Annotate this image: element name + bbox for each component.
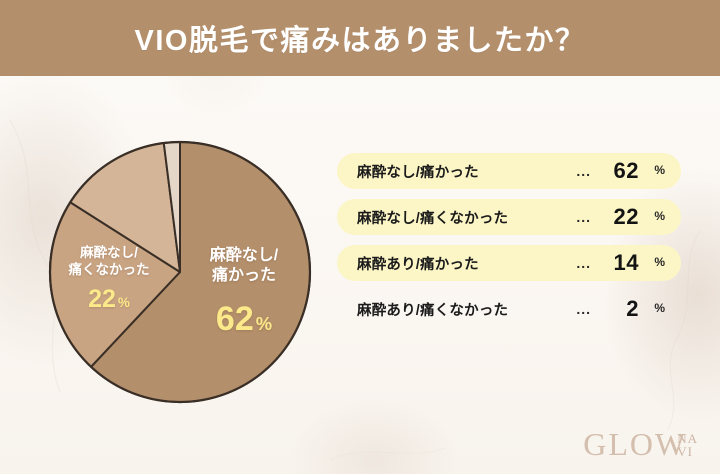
legend-label: 麻酔なし/痛くなかった [357,207,508,228]
legend-list: 麻酔なし/痛かった ... 62 % 麻酔なし/痛くなかった ... 22 % … [337,153,681,337]
legend-dots: ... [576,255,597,271]
slide-canvas: VIO脱毛で痛みはありましたか？ 麻酔なし/ 痛かった 62% 麻酔なし/ 痛く… [0,0,720,474]
page-title: VIO脱毛で痛みはありましたか？ [135,17,586,59]
pie-slice-label-secondary-line1: 麻酔なし/ [80,245,138,260]
brand-logo-sub-bottom: VI [677,445,698,458]
legend-value: 14 [597,250,639,276]
pie-slice-percent-primary: 62% [178,298,310,341]
pie-slice-label-secondary: 麻酔なし/ 痛くなかった 22% [50,244,168,316]
legend-label: 麻酔あり/痛かった [357,253,479,274]
pie-slice-percent-primary-value: 62 [216,300,254,338]
pie-slice-percent-secondary-value: 22 [88,285,116,313]
legend-row[interactable]: 麻酔なし/痛かった ... 62 % [337,153,681,189]
legend-dots: ... [576,301,597,317]
brand-logo-sub: NA VI [677,432,698,459]
legend-dots: ... [576,163,597,179]
legend-unit: % [639,163,665,179]
legend-label: 麻酔あり/痛くなかった [357,299,508,320]
brand-logo-sub-top: NA [677,432,698,445]
pie-slice-percent-secondary-unit: % [118,295,130,310]
legend-unit: % [639,209,665,225]
brand-logo: GLOW NA VI [583,428,698,460]
legend-label: 麻酔なし/痛かった [357,161,479,182]
brand-logo-main: GLOW [583,428,687,460]
legend-row[interactable]: 麻酔なし/痛くなかった ... 22 % [337,199,681,235]
legend-value: 22 [597,204,639,230]
legend-dots: ... [576,209,597,225]
pie-slice-label-primary-line2: 痛かった [212,267,276,284]
legend-unit: % [639,255,665,271]
pie-slice-label-primary-line1: 麻酔なし/ [210,247,278,264]
pie-slice-percent-secondary: 22% [50,284,168,316]
pie-slice-label-secondary-line2: 痛くなかった [69,262,150,277]
pie-slice-label-primary: 麻酔なし/ 痛かった 62% [178,246,310,341]
legend-row[interactable]: 麻酔あり/痛かった ... 14 % [337,245,681,281]
legend-value: 62 [597,158,639,184]
legend-unit: % [639,301,665,317]
legend-row[interactable]: 麻酔あり/痛くなかった ... 2 % [337,291,681,327]
pie-slice-percent-primary-unit: % [256,313,272,334]
legend-value: 2 [597,296,639,322]
header-band: VIO脱毛で痛みはありましたか？ [0,0,720,76]
